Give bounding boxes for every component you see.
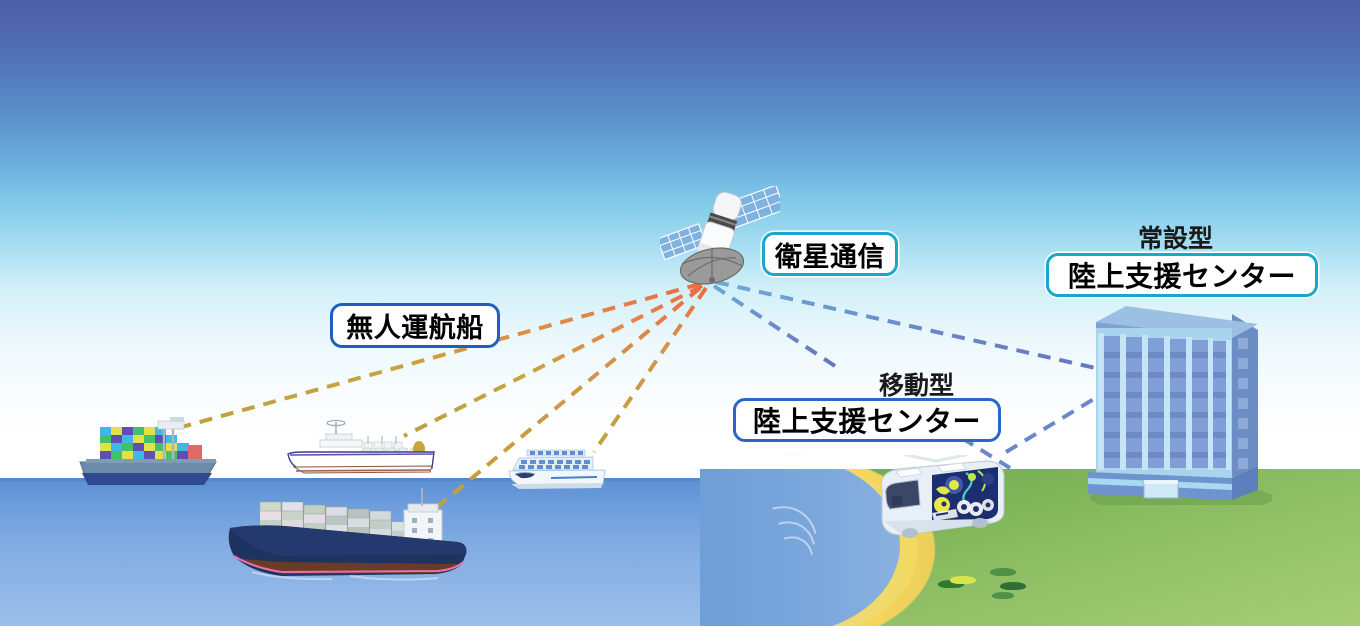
label-mobile-support-center[interactable]: 陸上支援センター [733, 398, 1001, 442]
permanent-support-building [1082, 300, 1272, 505]
grass-tuft [950, 576, 976, 584]
caption-mobile-type-text: 移動型 [879, 371, 954, 400]
cargo-ship-white [282, 418, 447, 478]
diagram-canvas: 衛星通信 無人運航船 常設型 陸上支援センター 移動型 陸上支援センター [0, 0, 1360, 626]
grass-tuft [1000, 582, 1026, 590]
label-permanent-support-center-text: 陸上支援センター [1068, 255, 1296, 295]
label-autonomous-ship[interactable]: 無人運航船 [330, 303, 500, 348]
label-autonomous-ship-text: 無人運航船 [346, 306, 484, 345]
mobile-support-vehicle [862, 455, 1012, 550]
grass-tuft [990, 568, 1016, 576]
label-satellite-communication-text: 衛星通信 [775, 235, 885, 274]
grass-tuft [992, 592, 1014, 599]
label-satellite-communication[interactable]: 衛星通信 [762, 232, 898, 276]
caption-permanent-type: 常設型 [1138, 219, 1213, 255]
caption-permanent-type-text: 常設型 [1138, 224, 1213, 253]
passenger-ferry [505, 440, 630, 495]
container-ship-far-left [78, 415, 238, 490]
caption-mobile-type: 移動型 [879, 366, 954, 402]
label-permanent-support-center[interactable]: 陸上支援センター [1046, 253, 1318, 297]
label-mobile-support-center-text: 陸上支援センター [753, 400, 981, 440]
container-ship-foreground [222, 480, 492, 585]
